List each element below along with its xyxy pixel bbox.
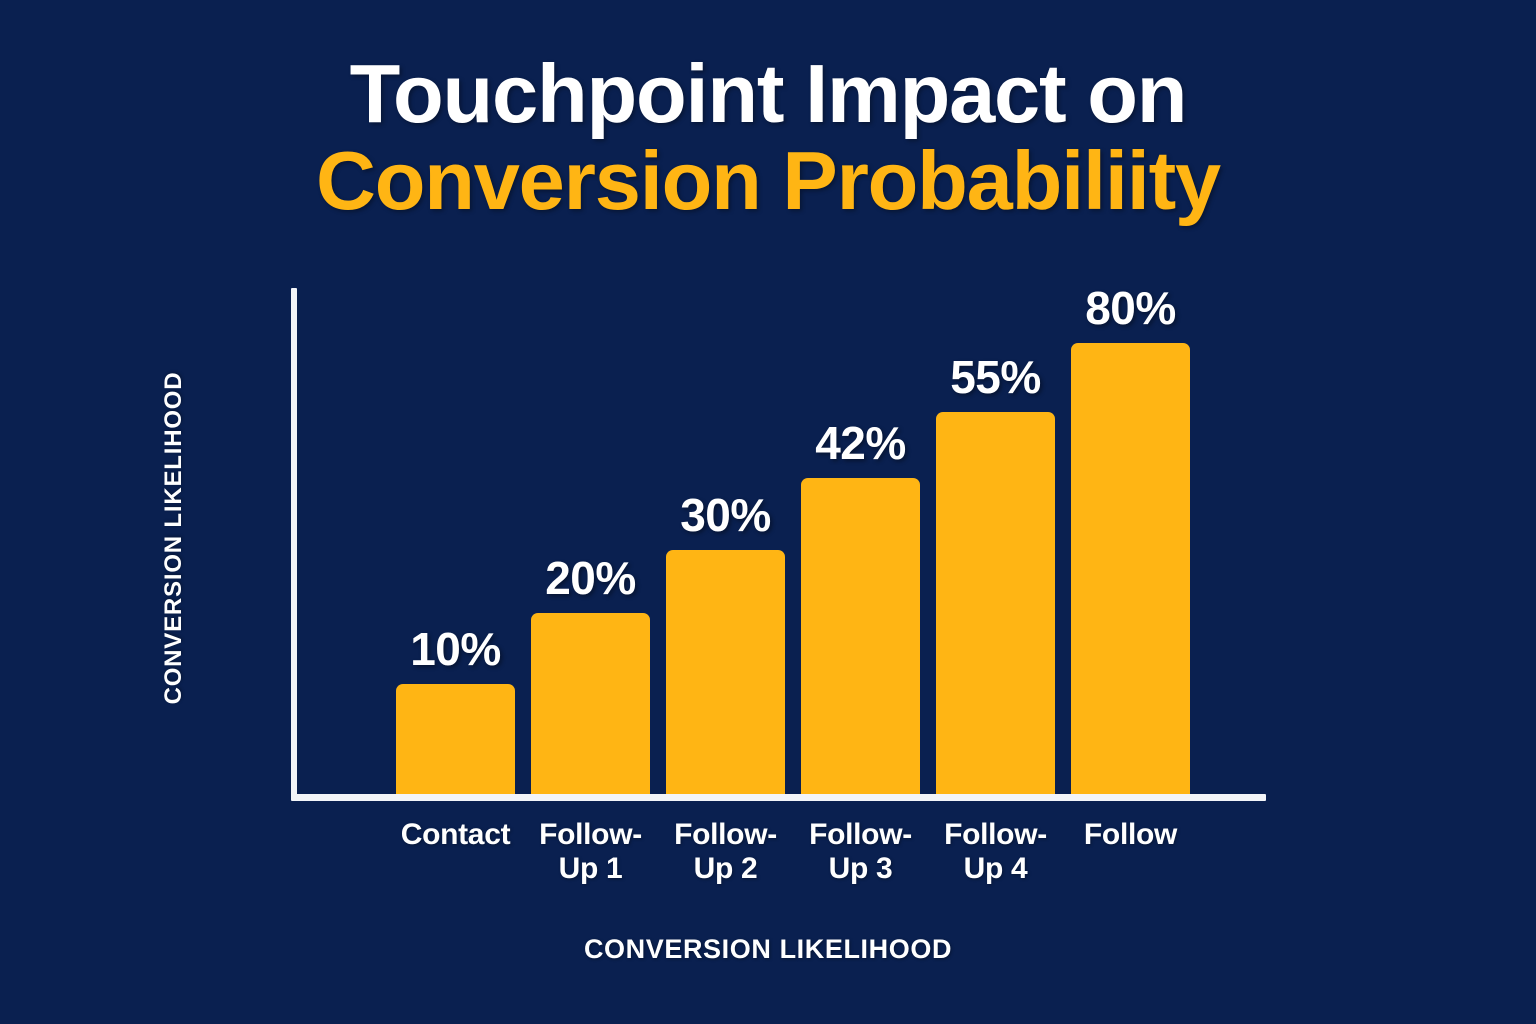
- tick-label-line: Follow-: [666, 818, 785, 852]
- bar-series-group: 10%20%30%42%55%80%: [396, 288, 1224, 794]
- x-axis-tick-label: Follow-Up 1: [531, 818, 650, 885]
- infographic-canvas: Touchpoint Impact on Conversion Probabil…: [0, 0, 1536, 1024]
- bar[interactable]: [1071, 343, 1190, 794]
- x-axis-tick-label: Contact: [396, 818, 515, 885]
- bar[interactable]: [531, 613, 650, 794]
- bar-column[interactable]: 20%: [531, 288, 650, 794]
- y-axis-title: CONVERSION LIKELIHOOD: [160, 318, 196, 758]
- bar[interactable]: [396, 684, 515, 794]
- bar[interactable]: [936, 412, 1055, 794]
- bar-value-label: 30%: [680, 488, 771, 542]
- tick-label-line: Up 2: [666, 852, 785, 886]
- x-axis-tick-labels: ContactFollow-Up 1Follow-Up 2Follow-Up 3…: [396, 818, 1224, 885]
- x-axis-tick-label: Follow-Up 4: [936, 818, 1055, 885]
- tick-label-line: Contact: [396, 818, 515, 852]
- x-axis-tick-label: Follow: [1071, 818, 1190, 885]
- tick-label-line: Follow-: [936, 818, 1055, 852]
- bar-column[interactable]: 42%: [801, 288, 920, 794]
- bar-chart-plot-area: 10%20%30%42%55%80%: [291, 288, 1266, 800]
- x-axis-title: CONVERSION LIKELIHOOD: [0, 934, 1536, 965]
- title-line-primary: Touchpoint Impact on: [0, 52, 1536, 137]
- bar-value-label: 10%: [410, 622, 501, 676]
- bar-column[interactable]: 30%: [666, 288, 785, 794]
- tick-label-line: Follow-: [531, 818, 650, 852]
- x-axis-tick-label: Follow-Up 2: [666, 818, 785, 885]
- bar-column[interactable]: 80%: [1071, 288, 1190, 794]
- x-axis-tick-label: Follow-Up 3: [801, 818, 920, 885]
- tick-label-line: Up 3: [801, 852, 920, 886]
- tick-label-line: Up 4: [936, 852, 1055, 886]
- bar-value-label: 42%: [815, 416, 906, 470]
- bar[interactable]: [666, 550, 785, 794]
- title-line-highlight: Conversion Probabiliity: [0, 139, 1536, 224]
- page-title: Touchpoint Impact on Conversion Probabil…: [0, 52, 1536, 223]
- bar-column[interactable]: 55%: [936, 288, 1055, 794]
- y-axis-line: [291, 288, 297, 800]
- tick-label-line: Follow-: [801, 818, 920, 852]
- tick-label-line: Follow: [1071, 818, 1190, 852]
- bar-column[interactable]: 10%: [396, 288, 515, 794]
- bar-value-label: 80%: [1085, 281, 1176, 335]
- tick-label-line: Up 1: [531, 852, 650, 886]
- bar-value-label: 55%: [950, 350, 1041, 404]
- bar-value-label: 20%: [545, 551, 636, 605]
- bar[interactable]: [801, 478, 920, 794]
- x-axis-line: [291, 794, 1266, 801]
